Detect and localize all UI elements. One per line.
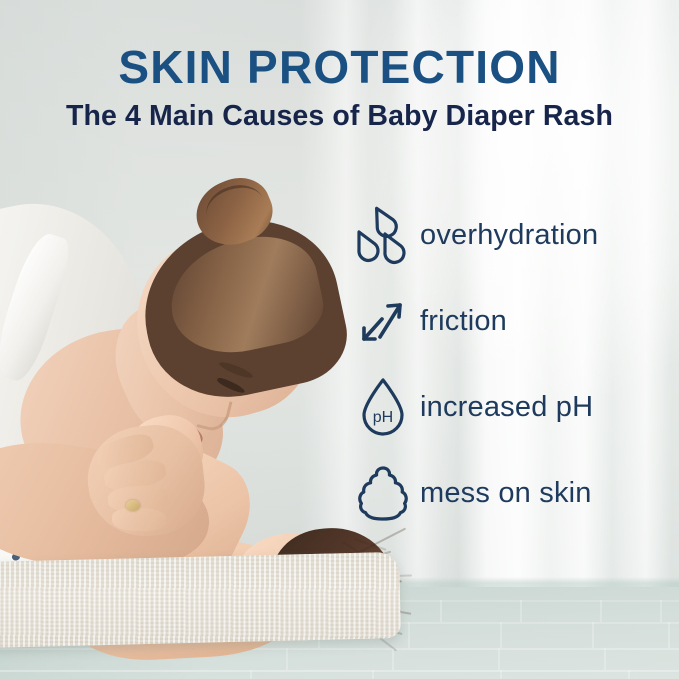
floor-rug <box>0 552 401 648</box>
page-subtitle: The 4 Main Causes of Baby Diaper Rash <box>0 102 679 131</box>
infographic-poster: SKIN PROTECTION The 4 Main Causes of Bab… <box>0 0 679 679</box>
rug-texture <box>0 552 401 648</box>
mother-ring <box>126 500 140 511</box>
cause-label: overhydration <box>420 221 598 250</box>
cause-item-increased-ph: pH increased pH <box>352 364 662 450</box>
cause-label: friction <box>420 307 507 336</box>
cause-item-overhydration: overhydration <box>352 192 662 278</box>
cause-item-mess-on-skin: mess on skin <box>352 450 662 536</box>
mess-stack-icon <box>352 465 414 521</box>
cause-label: mess on skin <box>420 479 592 508</box>
ph-icon-text: pH <box>373 409 393 426</box>
mother-finger <box>112 507 167 532</box>
cause-item-friction: friction <box>352 278 662 364</box>
friction-arrows-icon <box>352 297 414 345</box>
causes-list: overhydration friction pH increased p <box>352 192 662 536</box>
ph-droplet-icon: pH <box>352 377 414 437</box>
page-title: SKIN PROTECTION <box>0 44 679 90</box>
water-drops-icon <box>352 205 414 265</box>
cause-label: increased pH <box>420 393 593 422</box>
mother-nose <box>196 395 232 434</box>
